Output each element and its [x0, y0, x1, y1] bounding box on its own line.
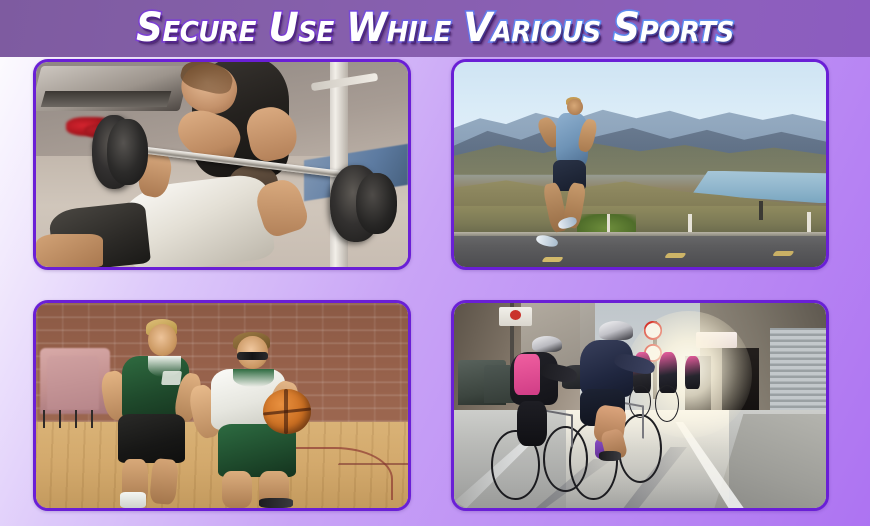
roadside-post-2 [688, 214, 692, 235]
photo-cycling [454, 303, 826, 508]
defender-jersey-number [161, 371, 182, 385]
gallery-card-basketball[interactable]: Two teenage boys playing basketball on a… [33, 300, 411, 511]
stacked-chairs-second [47, 356, 99, 409]
defender-shorts [118, 414, 185, 463]
gallery-card-cycling[interactable]: Group of cyclists riding down a sunlit c… [451, 300, 829, 511]
cyclist-left-pink-vest [514, 354, 540, 395]
cyclist-center-shoe [599, 451, 621, 461]
cyclist-distant-3 [685, 356, 700, 389]
barbell-plate-left-inner [107, 119, 148, 185]
cyclist-left-helmet [532, 336, 562, 352]
basketball-seam-vertical [284, 389, 288, 434]
cyclist-left-leg [517, 401, 547, 446]
cyclist-distant-2-wheel [655, 385, 679, 422]
page-title: Secure Use While Various Sports [30, 4, 839, 52]
page-header: Secure Use While Various Sports Secure U… [0, 0, 870, 57]
road-dash-3 [772, 251, 794, 256]
photo-gallery: Man bench pressing a loaded barbell whil… [33, 59, 829, 511]
attacker-shoe [259, 498, 292, 508]
roadside-post-3 [807, 212, 811, 235]
treadmill-base [41, 91, 172, 107]
photo-basketball [36, 303, 408, 508]
photo-running [454, 62, 826, 267]
attacker-left-leg [222, 471, 252, 508]
page-root: Secure Use While Various Sports Secure U… [0, 0, 870, 526]
road-dash-2 [665, 253, 687, 258]
photo-weightlifting [36, 62, 408, 267]
highway-shoulder [454, 232, 826, 236]
roadside-marker-dark [759, 201, 763, 219]
gallery-card-running[interactable]: Runner in a blue tank top jogging along … [451, 59, 829, 270]
cyclist-center-helmet [599, 321, 632, 339]
barbell-plate-right-outer [356, 173, 397, 235]
sports-goggles [237, 352, 269, 360]
gallery-card-weightlifting[interactable]: Man bench pressing a loaded barbell whil… [33, 59, 411, 270]
road-dash-1 [542, 257, 564, 262]
attacker-jersey-trim [233, 369, 274, 387]
highway-asphalt [454, 232, 826, 267]
lifter-leg [36, 234, 103, 267]
roadside-post-1 [607, 214, 611, 232]
desert-brush [454, 206, 826, 235]
chair-legs [43, 410, 103, 428]
defender-sock [120, 492, 146, 508]
